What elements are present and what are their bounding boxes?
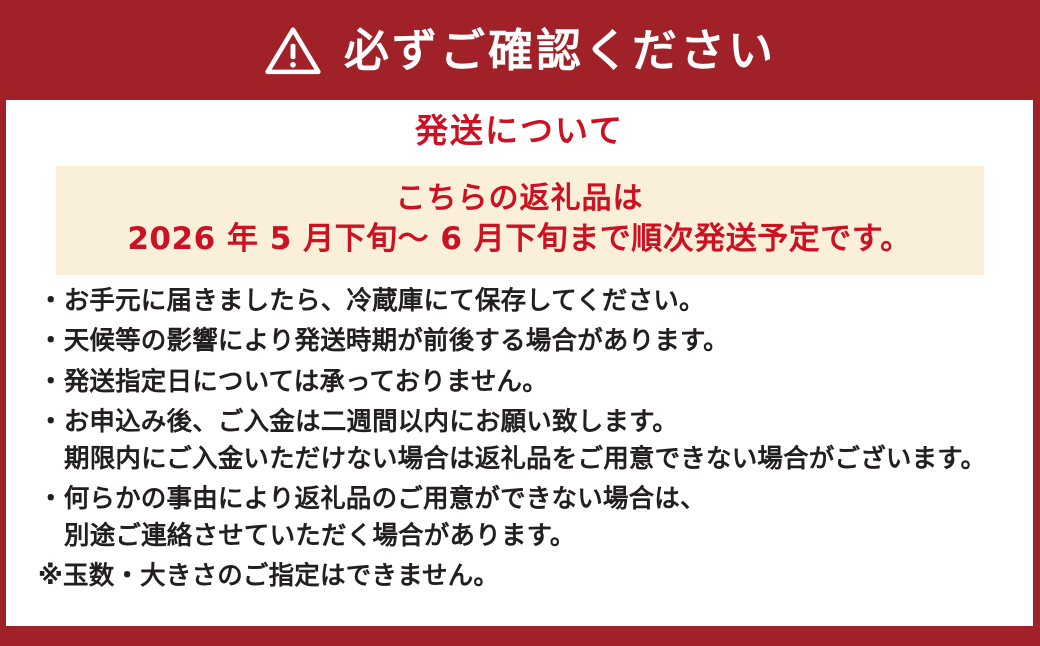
notice-body: 発送について こちらの返礼品は 2026 年 5 月下旬〜 6 月下旬まで順次発…	[6, 100, 1033, 626]
warning-triangle-icon	[264, 22, 322, 80]
note-continuation-line: 別途ご連絡させていただく場合があります。	[38, 524, 1033, 550]
section-title: 発送について	[6, 113, 1033, 149]
shipping-period-highlight: こちらの返礼品は 2026 年 5 月下旬〜 6 月下旬まで順次発送予定です。	[56, 166, 984, 275]
note-item: ・発送指定日については承っておりません。	[38, 370, 1033, 396]
notes-list: ・お手元に届きましたら、冷蔵庫にて保存してください。・天候等の影響により発送時期…	[6, 289, 1033, 590]
note-item: ・天候等の影響により発送時期が前後する場合があります。	[38, 329, 1033, 355]
notice-header-band: 必ずご確認ください	[0, 0, 1040, 100]
note-item: ・お手元に届きましたら、冷蔵庫にて保存してください。	[38, 289, 1033, 315]
highlight-line-2: 2026 年 5 月下旬〜 6 月下旬まで順次発送予定です。	[56, 219, 984, 260]
note-item: ・お申込み後、ご入金は二週間以内にお願い致します。	[38, 410, 1033, 436]
note-item: ※玉数・大きさのご指定はできません。	[38, 564, 1033, 590]
note-continuation-line: 期限内にご入金いただけない場合は返礼品をご用意できない場合がございます。	[38, 447, 1033, 473]
note-item: ・何らかの事由により返礼品のご用意ができない場合は、	[38, 487, 1033, 513]
shipping-notice-banner: 必ずご確認ください 発送について こちらの返礼品は 2026 年 5 月下旬〜 …	[0, 0, 1040, 646]
notice-header-title: 必ずご確認ください	[344, 28, 776, 73]
highlight-line-1: こちらの返礼品は	[56, 179, 984, 219]
